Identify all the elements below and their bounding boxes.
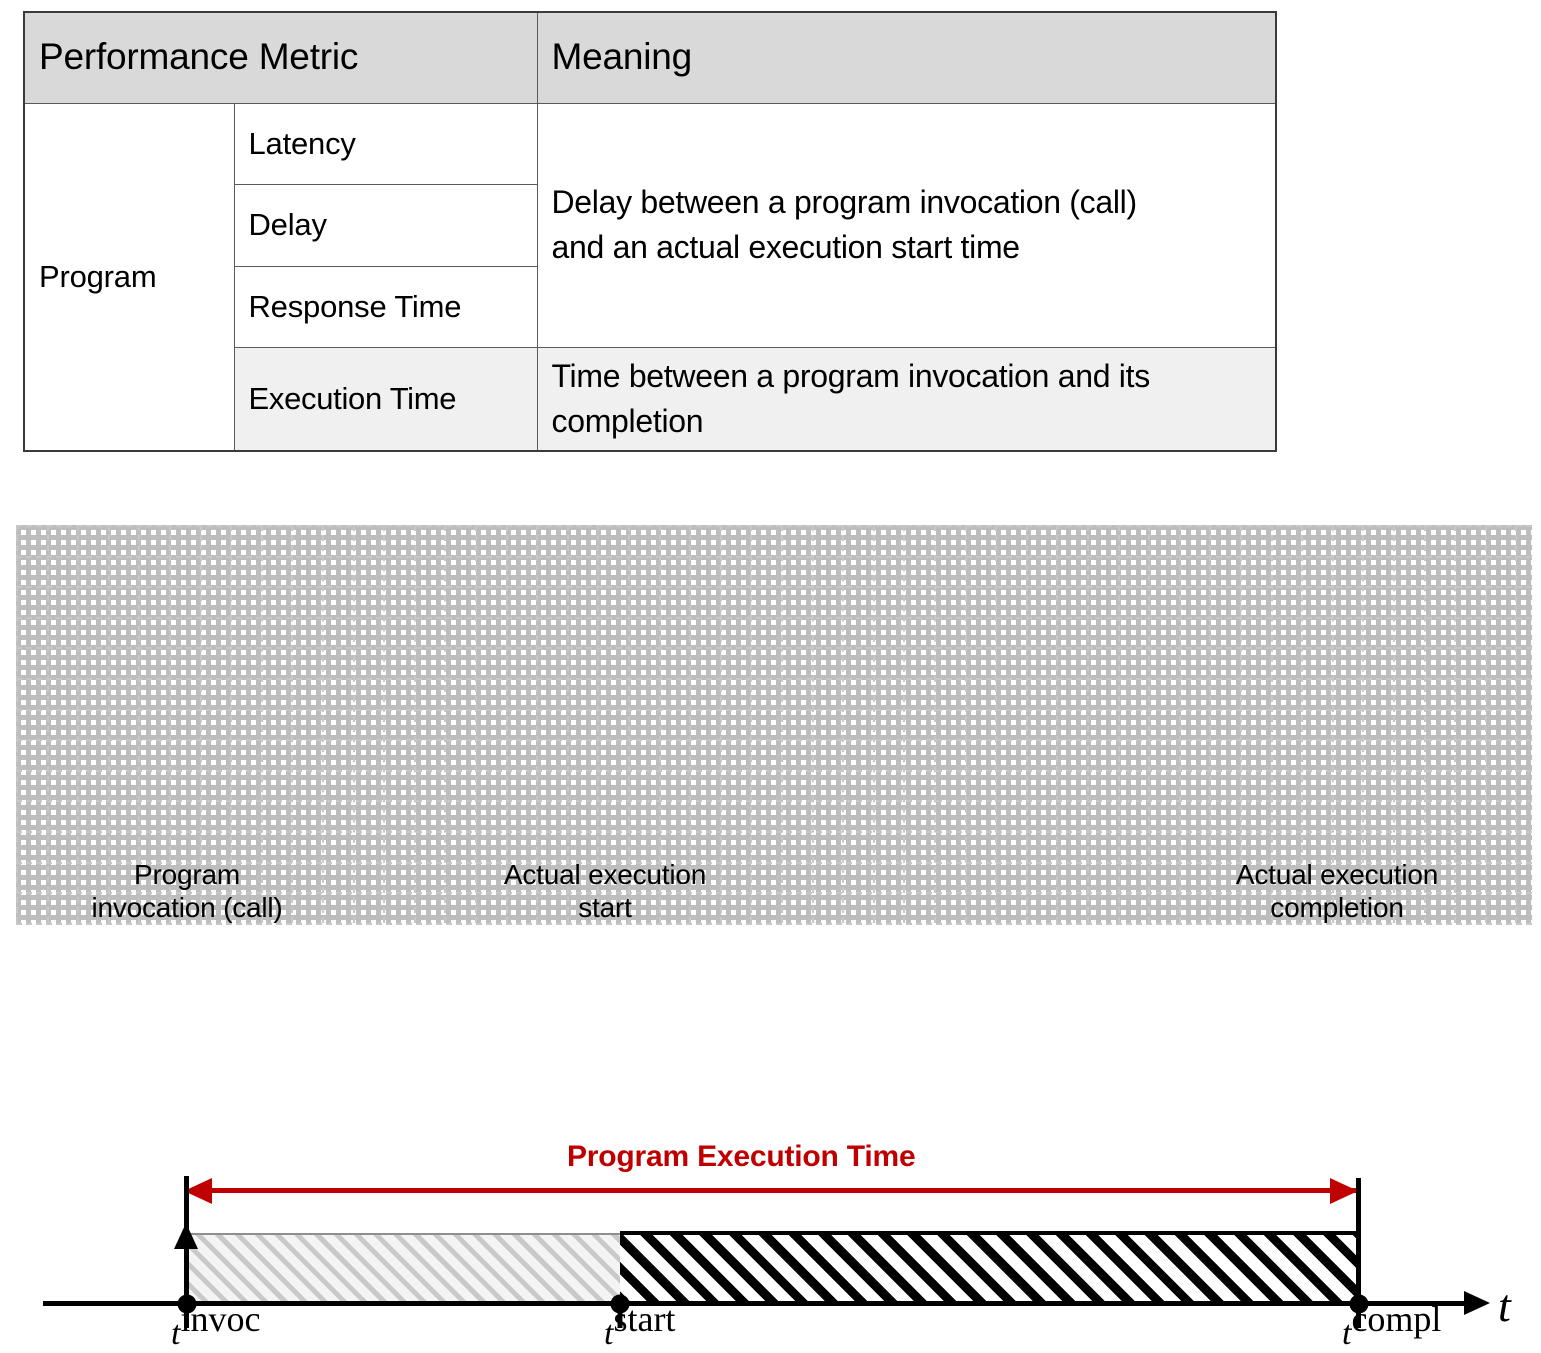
caption-line: Program (91, 858, 282, 891)
t-label-start: tstart (604, 1298, 675, 1353)
table-row: Program Latency Delay between a program … (24, 103, 1276, 185)
grid-line-vertical (383, 525, 385, 923)
performance-metrics-table: Performance Metric Meaning Program Laten… (23, 11, 1277, 452)
t-superscript: start (613, 1299, 675, 1339)
grid-line-vertical (353, 525, 355, 923)
column-header-performance-metric: Performance Metric (24, 12, 537, 103)
grid-line-vertical (750, 525, 752, 923)
caption-completion: Actual execution completion (1236, 858, 1438, 924)
time-axis-arrow-icon (1464, 1291, 1490, 1315)
caption-line: completion (1236, 891, 1438, 924)
grid-line-vertical (720, 525, 722, 923)
grid-line-vertical (475, 525, 477, 923)
grid-line-horizontal (16, 556, 1532, 558)
grid-line-vertical (1087, 525, 1089, 923)
grid-line-vertical (934, 525, 936, 923)
latency-bar (187, 1233, 620, 1306)
grid-line-vertical (1485, 525, 1487, 923)
grid-line-vertical (903, 525, 905, 923)
timing-diagram: Program Execution Time t tinvoc tstart t… (16, 525, 1532, 923)
meaning-line: Delay between a program invocation (call… (552, 180, 1262, 225)
grid-line-vertical (842, 525, 844, 923)
t-label-compl: tcompl (1342, 1298, 1441, 1353)
t-superscript: compl (1351, 1299, 1441, 1339)
grid-line-vertical (444, 525, 446, 923)
meaning-cell-latency-group: Delay between a program invocation (call… (537, 103, 1276, 348)
grid-line-horizontal (16, 709, 1532, 711)
grid-line-vertical (1148, 525, 1150, 923)
caption-invocation: Program invocation (call) (91, 858, 282, 924)
t-superscript: invoc (180, 1299, 260, 1339)
exec-arrow-label: Program Execution Time (567, 1140, 915, 1174)
grid-line-vertical (16, 525, 18, 923)
t-label-invoc: tinvoc (171, 1298, 260, 1353)
meaning-line: and an actual execution start time (552, 225, 1262, 270)
time-axis-label: t (1498, 1279, 1511, 1332)
exec-arrow-line (190, 1188, 1356, 1193)
grid-line-vertical (812, 525, 814, 923)
t-variable: t (1342, 1315, 1351, 1352)
grid-line-vertical (995, 525, 997, 923)
grid-line-horizontal (16, 800, 1532, 802)
grid-line-vertical (1515, 525, 1517, 923)
grid-line-horizontal (16, 647, 1532, 649)
metric-cell-response-time: Response Time (234, 266, 537, 348)
grid-line-vertical (414, 525, 416, 923)
caption-line: Actual execution (504, 858, 706, 891)
grid-line-vertical (873, 525, 875, 923)
metric-cell-latency: Latency (234, 103, 537, 185)
t-variable: t (604, 1315, 613, 1352)
table-header-row: Performance Metric Meaning (24, 12, 1276, 103)
grid-line-vertical (781, 525, 783, 923)
t-variable: t (171, 1315, 180, 1352)
caption-line: Actual execution (1236, 858, 1438, 891)
caption-line: invocation (call) (91, 891, 282, 924)
meaning-line: Time between a program invocation and it… (552, 354, 1262, 399)
grid-line-vertical (47, 525, 49, 923)
grid-line-horizontal (16, 739, 1532, 741)
metric-cell-delay: Delay (234, 185, 537, 267)
grid-line-vertical (77, 525, 79, 923)
grid-line-vertical (1056, 525, 1058, 923)
metric-cell-execution-time: Execution Time (234, 348, 537, 451)
column-header-meaning: Meaning (537, 12, 1276, 103)
grid-line-vertical (1118, 525, 1120, 923)
grid-line-vertical (1026, 525, 1028, 923)
caption-start: Actual execution start (504, 858, 706, 924)
meaning-line: completion (552, 399, 1262, 444)
grid-line-vertical (1454, 525, 1456, 923)
row-group-label-program: Program (24, 103, 234, 451)
grid-line-horizontal (16, 678, 1532, 680)
execution-bar (620, 1231, 1360, 1304)
grid-line-vertical (965, 525, 967, 923)
invocation-up-arrow-icon (174, 1223, 198, 1249)
grid-line-vertical (322, 525, 324, 923)
grid-line-horizontal (16, 586, 1532, 588)
grid-line-horizontal (16, 525, 1532, 527)
grid-line-vertical (1179, 525, 1181, 923)
grid-line-vertical (291, 525, 293, 923)
caption-line: start (504, 891, 706, 924)
grid-line-horizontal (16, 770, 1532, 772)
grid-line-horizontal (16, 617, 1532, 619)
exec-arrow-right-head (1330, 1178, 1358, 1204)
meaning-cell-execution-time: Time between a program invocation and it… (537, 348, 1276, 451)
grid-line-vertical (1209, 525, 1211, 923)
grid-line-horizontal (16, 831, 1532, 833)
